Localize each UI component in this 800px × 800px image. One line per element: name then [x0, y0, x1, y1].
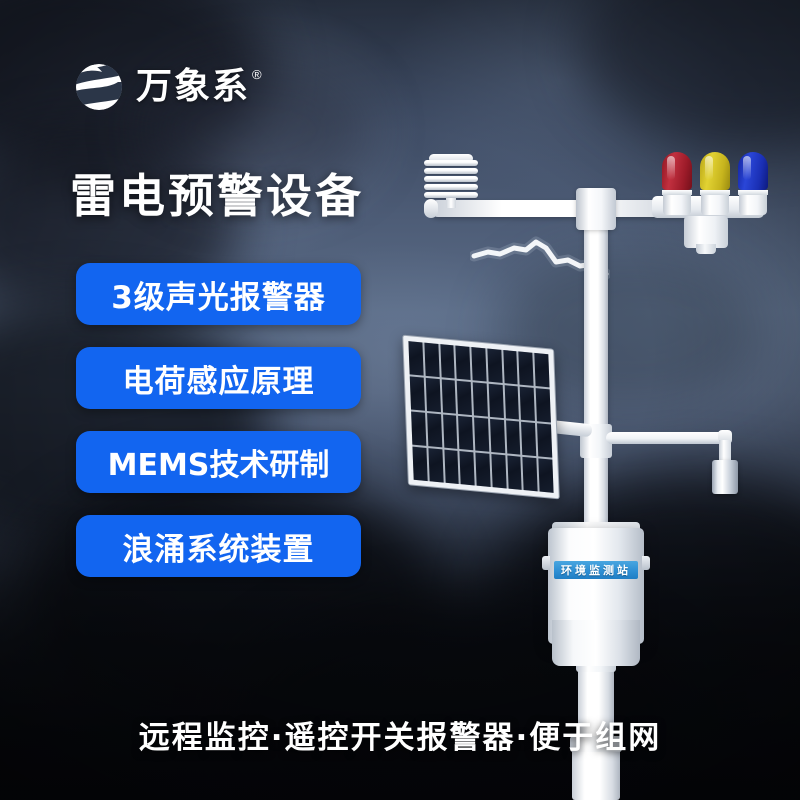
brand-name-text: 万象系 [136, 69, 250, 105]
page-title: 雷电预警设备 [70, 160, 364, 226]
feature-pill-4[interactable]: 浪涌系统装置 [76, 515, 361, 577]
poster-canvas: 环境监测站 万象系 ® 雷电预警设备 3级声光报警器 电荷感应原理 MEMS技术… [0, 0, 800, 800]
brand-wordmark: 万象系 ® [136, 69, 262, 105]
feature-pill-3[interactable]: MEMS技术研制 [76, 431, 361, 493]
brand-logo: 万象系 ® [72, 60, 262, 114]
registered-mark: ® [252, 67, 262, 82]
strapline: 远程监控·遥控开关报警器·便于组网 [0, 712, 800, 757]
feature-list: 3级声光报警器 电荷感应原理 MEMS技术研制 浪涌系统装置 [76, 263, 361, 577]
feature-pill-2[interactable]: 电荷感应原理 [76, 347, 361, 409]
globe-swoosh-logo-icon [72, 60, 126, 114]
feature-pill-1[interactable]: 3级声光报警器 [76, 263, 361, 325]
